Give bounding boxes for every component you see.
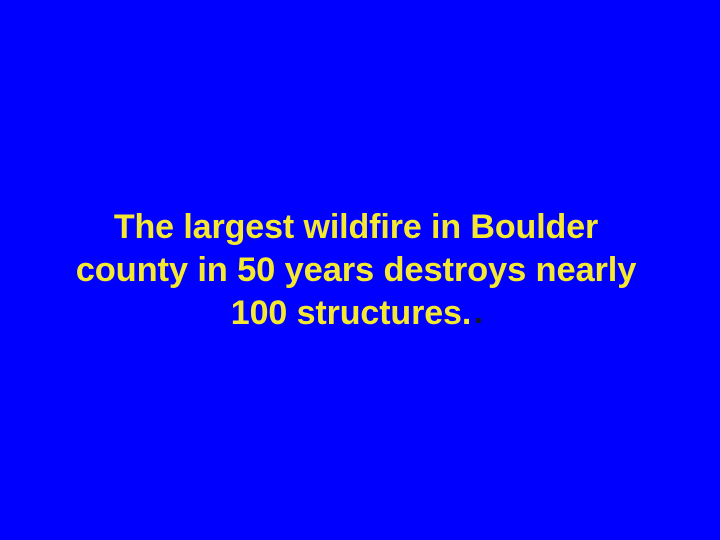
slide-text-line-3-wrapper: 100 structures. <box>2 292 710 335</box>
slide-text-block: The largest wildfire in Boulder county i… <box>0 0 720 540</box>
slide-canvas: The largest wildfire in Boulder county i… <box>0 0 720 540</box>
trailing-dot-artifact <box>476 318 481 323</box>
slide-text-line-2: county in 50 years destroys nearly <box>2 249 710 292</box>
slide-text-line-3: 100 structures. <box>231 294 471 332</box>
slide-text-line-1: The largest wildfire in Boulder <box>2 206 710 249</box>
